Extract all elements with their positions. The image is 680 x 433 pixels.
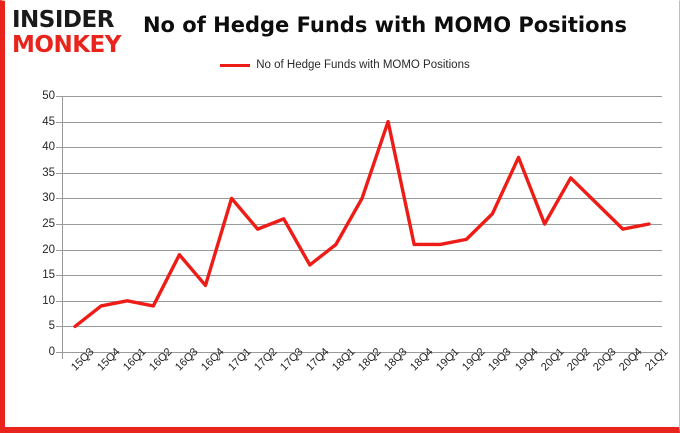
y-axis-tick-label: 20 (9, 244, 55, 256)
y-axis-tick-label: 30 (9, 192, 55, 204)
chart-legend: No of Hedge Funds with MOMO Positions (5, 59, 680, 71)
logo-line-insider: INSIDER (12, 9, 137, 32)
series-line-chart (62, 96, 662, 352)
y-axis-tick-label: 15 (9, 269, 55, 281)
chart-title: No of Hedge Funds with MOMO Positions (135, 13, 635, 37)
x-axis-labels: 15Q315Q416Q116Q216Q316Q417Q117Q217Q317Q4… (62, 359, 662, 419)
y-axis-tick-label: 10 (9, 295, 55, 307)
y-axis-tick-label: 40 (9, 141, 55, 153)
y-axis-tick-label: 5 (9, 320, 55, 332)
chart-frame: INSIDER MONKEY No of Hedge Funds with MO… (0, 0, 680, 433)
y-axis-tick-label: 45 (9, 116, 55, 128)
y-axis-tick-label: 50 (9, 90, 55, 102)
y-axis-tick-label: 25 (9, 218, 55, 230)
y-axis-labels: 05101520253035404550 (5, 96, 55, 352)
plot-area (62, 96, 662, 352)
y-axis-tick-label: 0 (9, 346, 55, 358)
series-polyline (75, 122, 649, 327)
legend-swatch-icon (220, 64, 250, 67)
logo-line-monkey: MONKEY (12, 34, 137, 57)
insider-monkey-logo: INSIDER MONKEY (12, 9, 137, 57)
legend-label: No of Hedge Funds with MOMO Positions (256, 59, 469, 71)
y-axis-tick-label: 35 (9, 167, 55, 179)
